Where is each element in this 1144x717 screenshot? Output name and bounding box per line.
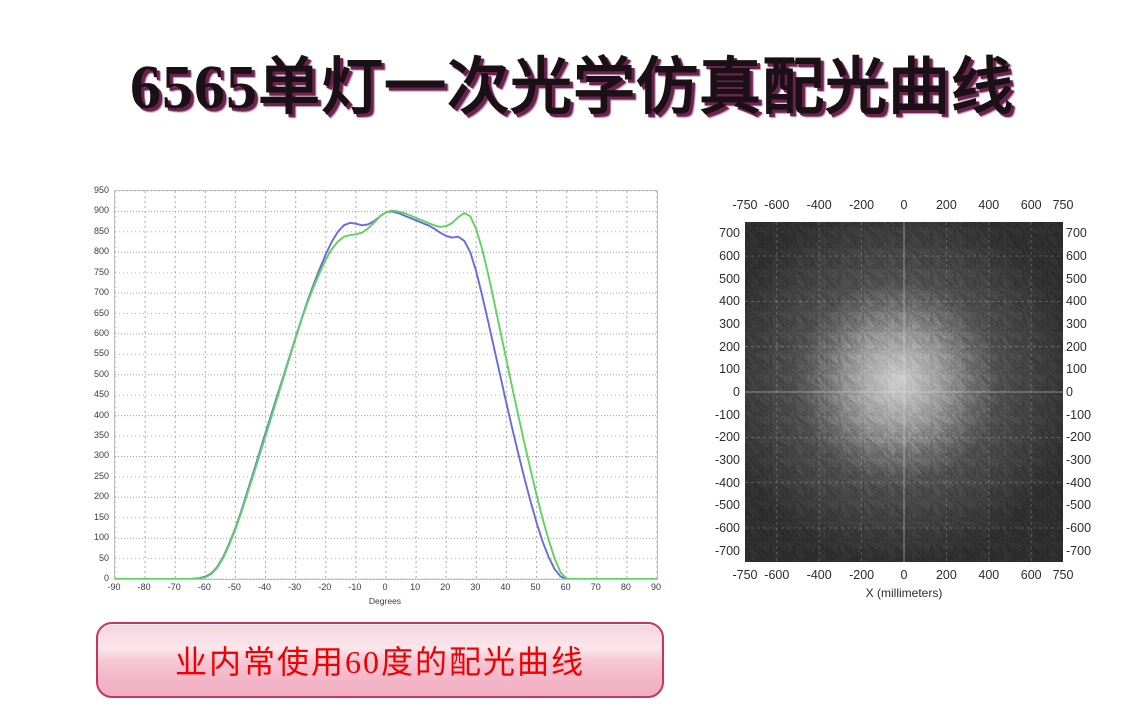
illuminance-x-tick-label: 400 bbox=[978, 568, 999, 582]
illuminance-y-tick-label: 100 bbox=[1066, 362, 1114, 376]
illuminance-x-tick-label: -400 bbox=[807, 198, 832, 212]
chart-x-tick-label: 80 bbox=[621, 582, 631, 592]
callout-box: 业内常使用60度的配光曲线 bbox=[96, 622, 664, 698]
chart-x-tick-label: 20 bbox=[440, 582, 450, 592]
illuminance-y-tick-label: 200 bbox=[694, 340, 740, 354]
chart-y-tick-label: 900 bbox=[76, 205, 109, 215]
chart-y-tick-label: 550 bbox=[76, 348, 109, 358]
illuminance-y-tick-label: 700 bbox=[1066, 226, 1114, 240]
illuminance-x-tick-label: 400 bbox=[978, 198, 999, 212]
chart-y-tick-label: 500 bbox=[76, 369, 109, 379]
chart-plot-area bbox=[114, 190, 658, 580]
chart-y-tick-label: 700 bbox=[76, 287, 109, 297]
illuminance-y-tick-label: -500 bbox=[694, 498, 740, 512]
illuminance-x-tick-label: 200 bbox=[936, 568, 957, 582]
intensity-distribution-chart: 0501001502002503003504004505005506006507… bbox=[76, 182, 676, 602]
illuminance-y-tick-label: -700 bbox=[1066, 544, 1114, 558]
illuminance-x-tick-label: -600 bbox=[764, 198, 789, 212]
chart-y-tick-label: 200 bbox=[76, 491, 109, 501]
chart-y-tick-label: 350 bbox=[76, 430, 109, 440]
illuminance-x-tick-label: -200 bbox=[849, 198, 874, 212]
callout-text: 业内常使用60度的配光曲线 bbox=[175, 637, 585, 683]
illuminance-gridlines bbox=[745, 222, 1063, 562]
chart-y-tick-label: 100 bbox=[76, 532, 109, 542]
chart-x-tick-label: 90 bbox=[651, 582, 661, 592]
chart-x-tick-label: 40 bbox=[500, 582, 510, 592]
page-title: 6565单灯一次光学仿真配光曲线 bbox=[0, 52, 1144, 124]
illuminance-x-tick-label: 750 bbox=[1053, 568, 1074, 582]
chart-y-tick-label: 400 bbox=[76, 410, 109, 420]
illuminance-y-tick-label: 300 bbox=[694, 317, 740, 331]
illuminance-y-tick-label: 200 bbox=[1066, 340, 1114, 354]
chart-x-tick-label: 30 bbox=[470, 582, 480, 592]
chart-y-tick-label: 0 bbox=[76, 573, 109, 583]
chart-y-tick-label: 50 bbox=[76, 553, 109, 563]
chart-y-tick-label: 450 bbox=[76, 389, 109, 399]
illuminance-map-panel: -750-600-400-2000200400600750 -750-600-4… bbox=[694, 190, 1114, 610]
illuminance-y-tick-label: -500 bbox=[1066, 498, 1114, 512]
illuminance-y-tick-label: 500 bbox=[694, 272, 740, 286]
illuminance-x-tick-label: -750 bbox=[732, 198, 757, 212]
illuminance-y-tick-label: -600 bbox=[694, 521, 740, 535]
chart-x-tick-label: 70 bbox=[591, 582, 601, 592]
chart-x-tick-label: -80 bbox=[138, 582, 151, 592]
illuminance-y-tick-label: -400 bbox=[694, 476, 740, 490]
illuminance-x-tick-label: 600 bbox=[1021, 568, 1042, 582]
chart-y-tick-label: 750 bbox=[76, 267, 109, 277]
illuminance-y-tick-label: -100 bbox=[694, 408, 740, 422]
chart-y-tick-label: 250 bbox=[76, 471, 109, 481]
chart-x-tick-label: 0 bbox=[382, 582, 387, 592]
illuminance-y-tick-label: 600 bbox=[694, 249, 740, 263]
chart-x-tick-label: 50 bbox=[531, 582, 541, 592]
illuminance-y-tick-label: -600 bbox=[1066, 521, 1114, 535]
illuminance-x-tick-label: 750 bbox=[1053, 198, 1074, 212]
chart-curves bbox=[115, 191, 657, 579]
illuminance-y-tick-label: -700 bbox=[694, 544, 740, 558]
illuminance-y-tick-label: -300 bbox=[694, 453, 740, 467]
illuminance-y-tick-label: 500 bbox=[1066, 272, 1114, 286]
illuminance-y-tick-label: -200 bbox=[694, 430, 740, 444]
chart-y-tick-label: 650 bbox=[76, 308, 109, 318]
illuminance-x-tick-label: 600 bbox=[1021, 198, 1042, 212]
illuminance-map-image bbox=[745, 222, 1063, 562]
chart-x-tick-label: -10 bbox=[348, 582, 361, 592]
chart-y-tick-label: 150 bbox=[76, 512, 109, 522]
illuminance-y-tick-label: 100 bbox=[694, 362, 740, 376]
chart-x-tick-label: -20 bbox=[318, 582, 331, 592]
chart-x-tick-label: -90 bbox=[107, 582, 120, 592]
illuminance-y-tick-label: 0 bbox=[694, 385, 740, 399]
illuminance-x-tick-label: -200 bbox=[849, 568, 874, 582]
chart-x-tick-label: -60 bbox=[198, 582, 211, 592]
illuminance-x-tick-label: 200 bbox=[936, 198, 957, 212]
illuminance-y-tick-label: 400 bbox=[1066, 294, 1114, 308]
illuminance-y-tick-label: 400 bbox=[694, 294, 740, 308]
illuminance-y-tick-label: 300 bbox=[1066, 317, 1114, 331]
illuminance-y-tick-label: -400 bbox=[1066, 476, 1114, 490]
chart-x-axis-title: Degrees bbox=[114, 596, 656, 606]
illuminance-x-axis-title: X (millimeters) bbox=[745, 586, 1063, 600]
chart-y-tick-label: 950 bbox=[76, 185, 109, 195]
chart-y-tick-label: 800 bbox=[76, 246, 109, 256]
chart-y-tick-label: 850 bbox=[76, 226, 109, 236]
chart-x-tick-label: -50 bbox=[228, 582, 241, 592]
illuminance-y-tick-label: 600 bbox=[1066, 249, 1114, 263]
illuminance-x-tick-label: 0 bbox=[901, 198, 908, 212]
chart-y-tick-label: 600 bbox=[76, 328, 109, 338]
chart-x-tick-label: 10 bbox=[410, 582, 420, 592]
chart-y-tick-label: 300 bbox=[76, 450, 109, 460]
illuminance-y-tick-label: -200 bbox=[1066, 430, 1114, 444]
illuminance-x-tick-label: 0 bbox=[901, 568, 908, 582]
illuminance-y-tick-label: -100 bbox=[1066, 408, 1114, 422]
illuminance-x-tick-label: -600 bbox=[764, 568, 789, 582]
chart-x-tick-label: -30 bbox=[288, 582, 301, 592]
chart-x-tick-label: 60 bbox=[561, 582, 571, 592]
chart-x-tick-label: -70 bbox=[168, 582, 181, 592]
illuminance-x-tick-label: -400 bbox=[807, 568, 832, 582]
chart-x-tick-label: -40 bbox=[258, 582, 271, 592]
illuminance-y-tick-label: 700 bbox=[694, 226, 740, 240]
illuminance-y-tick-label: 0 bbox=[1066, 385, 1114, 399]
illuminance-y-tick-label: -300 bbox=[1066, 453, 1114, 467]
illuminance-x-tick-label: -750 bbox=[732, 568, 757, 582]
